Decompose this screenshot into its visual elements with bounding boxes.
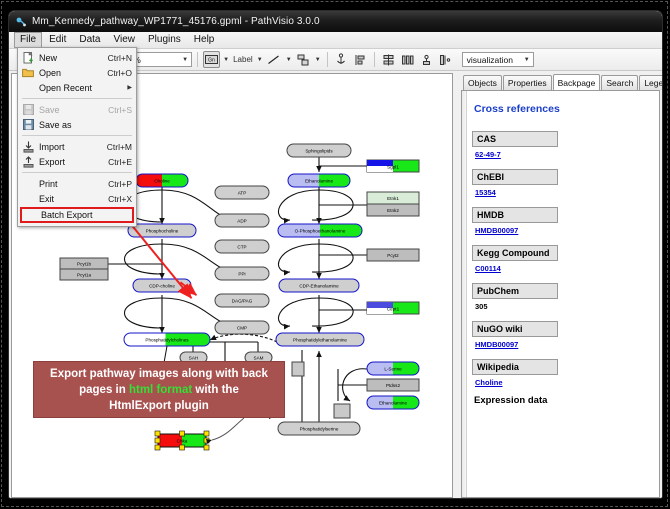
menu-data[interactable]: Data [73, 32, 106, 48]
chevron-down-icon: ▼ [524, 53, 530, 66]
callout-line-2b: with the [192, 384, 239, 396]
xref-value: 305 [475, 302, 659, 311]
gene-label: Etnk1 [387, 196, 399, 201]
menu-file[interactable]: File [14, 32, 42, 48]
xref-value-link[interactable]: HMDB00097 [475, 226, 659, 235]
svg-text:Phosphatidylcholines: Phosphatidylcholines [145, 338, 189, 343]
label-dropdown-icon[interactable]: ▼ [256, 52, 264, 68]
svg-text:Ethanolamine: Ethanolamine [305, 179, 334, 184]
menu-item-label: Save [36, 105, 102, 115]
gene-label: Pcyt1a [77, 273, 91, 278]
callout-line-3: HtmlExport plugin [109, 400, 209, 412]
xref-hmdb: HMDB HMDB00097 [472, 205, 659, 235]
blank-icon [20, 192, 36, 205]
tab-objects[interactable]: Objects [463, 75, 502, 90]
svg-text:SAH: SAH [189, 356, 198, 361]
save-disk-icon [20, 103, 36, 116]
menu-item-label: Open [36, 68, 101, 78]
cross-references-heading: Cross references [474, 103, 659, 115]
tab-legend[interactable]: Legend [639, 75, 663, 90]
gene-label: Etnk2 [387, 208, 399, 213]
svg-text:SAM: SAM [254, 356, 264, 361]
expression-data-heading: Expression data [474, 395, 659, 406]
xref-value-link[interactable]: C00114 [475, 264, 659, 273]
gene-label: Pcyt2 [387, 253, 399, 258]
gene-box-ptdss2[interactable]: Ptdss2 [367, 379, 419, 391]
svg-text:DAG/PAG: DAG/PAG [232, 299, 253, 304]
callout-highlight: html format [129, 384, 192, 396]
tab-search[interactable]: Search [601, 75, 638, 90]
toolbar-separator-3 [327, 52, 328, 67]
gene-label: Sgpl1 [387, 165, 399, 170]
svg-text:Sphingolipids: Sphingolipids [305, 149, 333, 154]
node-cdp-choline[interactable]: CDP-choline [133, 279, 191, 292]
svg-text:CDP-choline: CDP-choline [149, 284, 175, 289]
menu-item-label: Open Recent [36, 83, 127, 93]
gene-box-pcyt1a[interactable]: Pcyt1a [60, 269, 108, 280]
xref-cas: CAS 62-49-7 [472, 129, 659, 159]
window-title: Mm_Kennedy_pathway_WP1771_45176.gpml - P… [32, 16, 320, 27]
menu-item-open-recent[interactable]: Open Recent ▶ [18, 80, 136, 95]
svg-text:CMP: CMP [237, 326, 247, 331]
gene-box-etnk2[interactable]: Etnk2 [367, 204, 419, 216]
gene-box-pcyt2[interactable]: Pcyt2 [367, 249, 419, 261]
menu-item-label: Print [36, 179, 102, 189]
node-choline[interactable]: Choline [136, 174, 188, 187]
svg-text:ADP: ADP [237, 219, 246, 224]
menu-view[interactable]: View [107, 32, 141, 48]
svg-text:CDP-Ethanolamine: CDP-Ethanolamine [299, 284, 339, 289]
side-panel-tabs[interactable]: Objects Properties Backpage Search Legen… [455, 73, 660, 90]
node-ctp[interactable]: CTP [215, 240, 269, 253]
menu-item-batch-export[interactable]: Batch Export [20, 207, 134, 223]
xref-value-link[interactable]: 15354 [475, 188, 659, 197]
side-panel: Objects Properties Backpage Search Legen… [455, 73, 660, 498]
distribute-button[interactable] [399, 51, 416, 68]
stack-button[interactable] [418, 51, 435, 68]
menu-item-shortcut: Ctrl+P [102, 179, 132, 189]
menu-item-open[interactable]: Open Ctrl+O [18, 65, 136, 80]
node-phosphatidylcholines[interactable]: Phosphatidylcholines [124, 333, 210, 346]
line-dropdown-icon[interactable]: ▼ [285, 52, 293, 68]
menu-item-label: New [36, 53, 102, 63]
menu-separator [22, 135, 132, 136]
svg-text:PPi: PPi [238, 272, 245, 277]
xref-kegg-compound: Kegg Compound C00114 [472, 243, 659, 273]
svg-text:O-Phosphoethanolamine: O-Phosphoethanolamine [295, 229, 346, 234]
shape-tool-icon[interactable] [295, 51, 312, 68]
blank-icon [20, 81, 36, 94]
submenu-arrow-icon: ▶ [127, 84, 132, 91]
node-l-serine[interactable]: L-Serine [367, 362, 419, 375]
menu-item-shortcut: Ctrl+O [101, 68, 132, 78]
menu-item-label: Import [36, 142, 101, 152]
shape-dropdown-icon[interactable]: ▼ [314, 52, 322, 68]
group-button[interactable] [437, 51, 454, 68]
visualization-value: visualization [467, 55, 513, 65]
menu-item-label: Batch Export [23, 210, 128, 220]
new-document-icon [20, 51, 36, 64]
label-tool-text[interactable]: Label [232, 55, 254, 64]
node-cmp[interactable]: CMP [215, 321, 269, 334]
svg-text:Ethanolamine: Ethanolamine [379, 401, 408, 406]
gene-box-sgpl1[interactable]: Sgpl1 [367, 160, 419, 172]
panel-left-rail [462, 91, 467, 497]
annotation-callout: Export pathway images along with back pa… [33, 361, 285, 418]
xref-label: Wikipedia [472, 359, 558, 375]
svg-text:Phosphocholine: Phosphocholine [146, 229, 179, 234]
svg-text:Chka: Chka [177, 439, 188, 444]
menu-help[interactable]: Help [188, 32, 221, 48]
title-bar: Mm_Kennedy_pathway_WP1771_45176.gpml - P… [9, 11, 662, 32]
blank-icon [20, 177, 36, 190]
menu-item-new[interactable]: New Ctrl+N [18, 50, 136, 65]
backpage-content: Cross references CAS 62-49-7 ChEBI 15354… [461, 90, 660, 498]
menu-item-shortcut: Ctrl+E [102, 157, 132, 167]
node-o-phosphoethanolamine[interactable]: O-Phosphoethanolamine [278, 224, 362, 237]
node-phosphocholine[interactable]: Phosphocholine [128, 224, 196, 237]
geneproduct-dropdown-icon[interactable]: ▼ [222, 52, 230, 68]
xref-label: NuGO wiki [472, 321, 558, 337]
gene-label: Ptdss2 [386, 383, 400, 388]
menu-item-exit[interactable]: Exit Ctrl+X [18, 191, 136, 206]
save-as-icon [20, 118, 36, 131]
line-tool-icon[interactable] [266, 51, 283, 68]
node-adp[interactable]: ADP [215, 214, 269, 227]
gene-label: Cept1 [387, 307, 400, 312]
menu-item-print[interactable]: Print Ctrl+P [18, 176, 136, 191]
svg-text:Gn: Gn [208, 57, 215, 63]
menu-item-save-as[interactable]: Save as [18, 117, 136, 132]
xref-nugo-wiki: NuGO wiki HMDB00097 [472, 319, 659, 349]
svg-text:Phosphatidylserine: Phosphatidylserine [300, 427, 339, 432]
menu-item-import[interactable]: Import Ctrl+M [18, 139, 136, 154]
menu-item-label: Export [36, 157, 102, 167]
menu-plugins[interactable]: Plugins [142, 32, 187, 48]
tab-properties[interactable]: Properties [503, 75, 552, 90]
gene-box-etnk1[interactable]: Etnk1 [367, 192, 419, 204]
node-ethanolamine-top[interactable]: Ethanolamine [288, 174, 350, 187]
menu-edit[interactable]: Edit [43, 32, 72, 48]
tab-backpage[interactable]: Backpage [553, 74, 601, 91]
node-phosphatidylethanolamine[interactable]: Phosphatidylethanolamine [276, 333, 364, 346]
xref-label: ChEBI [472, 169, 558, 185]
xref-wikipedia: Wikipedia Choline [472, 357, 659, 387]
menu-item-save: Save Ctrl+S [18, 102, 136, 117]
export-icon [20, 155, 36, 168]
node-atp[interactable]: ATP [215, 186, 269, 199]
xref-chebi: ChEBI 15354 [472, 167, 659, 197]
node-ppi[interactable]: PPi [215, 267, 269, 280]
align-left-button[interactable] [352, 51, 369, 68]
xref-label: Kegg Compound [472, 245, 558, 261]
xref-value-link[interactable]: HMDB00097 [475, 340, 659, 349]
xref-label: PubChem [472, 283, 558, 299]
open-folder-icon [20, 66, 36, 79]
svg-text:Choline: Choline [154, 179, 170, 184]
menu-item-shortcut: Ctrl+N [102, 53, 132, 63]
xref-pubchem: PubChem 305 [472, 281, 659, 311]
geneproduct-tool-icon[interactable]: Gn [203, 51, 220, 68]
xref-label: CAS [472, 131, 558, 147]
menu-item-shortcut: Ctrl+X [102, 194, 132, 204]
svg-text:ATP: ATP [238, 191, 247, 196]
chevron-down-icon: ▼ [182, 53, 188, 66]
menu-separator [22, 172, 132, 173]
visualization-combobox[interactable]: visualization ▼ [462, 52, 534, 67]
menu-item-export[interactable]: Export Ctrl+E [18, 154, 136, 169]
svg-text:L-Serine: L-Serine [384, 367, 402, 372]
xref-value-link[interactable]: 62-49-7 [475, 150, 659, 159]
callout-line-1: Export pathway images along with back [50, 368, 268, 380]
application-window: Mm_Kennedy_pathway_WP1771_45176.gpml - P… [8, 10, 663, 499]
xref-value-link[interactable]: Choline [475, 378, 659, 387]
node-dag-pag[interactable]: DAG/PAG [215, 294, 269, 307]
svg-text:Phosphatidylethanolamine: Phosphatidylethanolamine [293, 338, 347, 343]
toolbar-separator-4 [374, 52, 375, 67]
node-sphingolipids[interactable]: Sphingolipids [287, 144, 351, 157]
align-center-button[interactable] [380, 51, 397, 68]
menu-item-shortcut: Ctrl+M [101, 142, 132, 152]
callout-line-2a: pages in [79, 384, 129, 396]
pathvisio-icon [15, 16, 27, 28]
import-icon [20, 140, 36, 153]
xref-label: HMDB [472, 207, 558, 223]
menu-item-label: Exit [36, 194, 102, 204]
menu-item-shortcut: Ctrl+S [102, 105, 132, 115]
toolbar-separator-2 [197, 52, 198, 67]
node-ethanolamine-bottom[interactable]: Ethanolamine [367, 396, 419, 409]
file-menu-dropdown[interactable]: New Ctrl+N Open Ctrl+O Open Recent ▶ [17, 47, 137, 227]
gene-box-cept1[interactable]: Cept1 [367, 302, 419, 314]
menu-separator [22, 98, 132, 99]
menu-item-label: Save as [36, 120, 126, 130]
gene-box-pcyt1b[interactable]: Pcyt1b [60, 258, 108, 269]
svg-text:CTP: CTP [237, 245, 246, 250]
screenshot-root: Mm_Kennedy_pathway_WP1771_45176.gpml - P… [0, 0, 670, 509]
gene-label: Pcyt1b [77, 262, 91, 267]
anchor-tool-icon[interactable] [333, 51, 350, 68]
node-cdp-ethanolamine[interactable]: CDP-Ethanolamine [279, 279, 359, 292]
node-phosphatidylserine[interactable]: Phosphatidylserine [278, 422, 360, 435]
